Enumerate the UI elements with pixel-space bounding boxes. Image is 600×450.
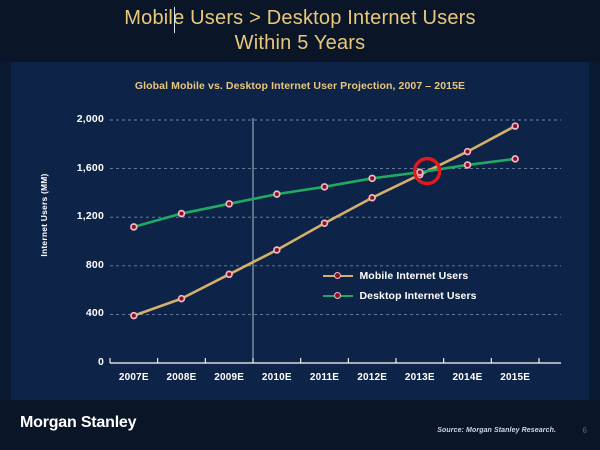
x-tick-label: 2015E — [489, 372, 541, 383]
y-tick-label: 1,600 — [56, 162, 104, 174]
slide-header: Mobile Users > Desktop Internet Users Wi… — [0, 0, 600, 62]
slide-title: Mobile Users > Desktop Internet Users Wi… — [0, 6, 600, 56]
text-cursor-caret — [174, 7, 175, 33]
morgan-stanley-logo: Morgan Stanley — [20, 414, 136, 432]
y-tick-label: 0 — [56, 356, 104, 368]
slide-root: Mobile Users > Desktop Internet Users Wi… — [0, 0, 600, 450]
chart-panel: Global Mobile vs. Desktop Internet User … — [11, 62, 589, 400]
legend-item-mobile[interactable]: Mobile Internet Users — [323, 267, 477, 287]
y-tick-label: 800 — [56, 259, 104, 271]
x-tick-label: 2008E — [156, 372, 208, 383]
legend-label-desktop: Desktop Internet Users — [359, 290, 476, 302]
page-number: 6 — [583, 426, 587, 435]
legend-item-desktop[interactable]: Desktop Internet Users — [323, 287, 477, 307]
y-tick-label: 1,200 — [56, 210, 104, 222]
x-tick-label: 2007E — [108, 372, 160, 383]
slide-footer: Morgan Stanley Source: Morgan Stanley Re… — [0, 400, 600, 450]
legend-swatch-desktop-icon — [323, 291, 353, 301]
x-tick-label: 2011E — [299, 372, 351, 383]
legend-swatch-mobile-icon — [323, 271, 353, 281]
x-tick-label: 2012E — [346, 372, 398, 383]
slide-title-line-1: Mobile Users > Desktop Internet Users — [0, 6, 600, 31]
source-note: Source: Morgan Stanley Research. — [437, 427, 556, 434]
y-axis-title: Internet Users (MM) — [39, 155, 49, 275]
legend-label-mobile: Mobile Internet Users — [359, 270, 468, 282]
x-tick-label: 2009E — [203, 372, 255, 383]
x-tick-label: 2014E — [442, 372, 494, 383]
x-tick-label: 2010E — [251, 372, 303, 383]
y-tick-label: 400 — [56, 307, 104, 319]
plot-area: Internet Users (MM) 04008001,2001,6002,0… — [11, 62, 589, 400]
y-tick-label: 2,000 — [56, 113, 104, 125]
x-tick-label: 2013E — [394, 372, 446, 383]
slide-title-line-2: Within 5 Years — [0, 31, 600, 56]
chart-legend: Mobile Internet Users Desktop Internet U… — [323, 267, 477, 307]
